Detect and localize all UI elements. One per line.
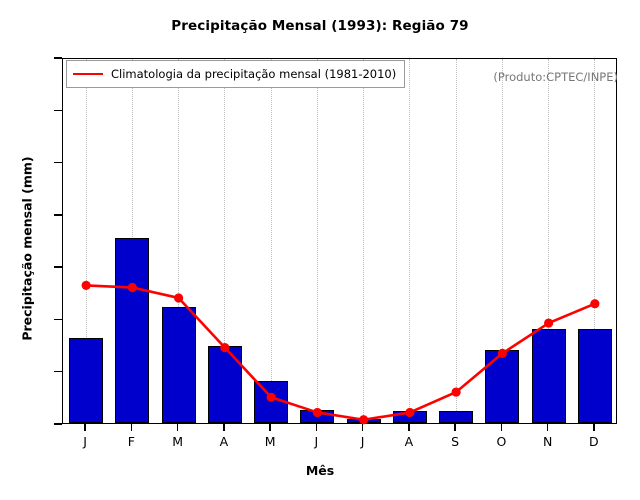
x-axis-tick-label: N	[528, 434, 568, 449]
x-axis-tick-label: F	[111, 434, 151, 449]
plot-inner	[63, 59, 616, 423]
bar	[69, 338, 103, 423]
y-axis-label: Precipitação mensal (mm)	[20, 129, 35, 369]
bar	[300, 410, 334, 423]
x-axis-tick	[454, 424, 455, 431]
x-axis-tick	[547, 424, 548, 431]
bar	[162, 307, 196, 423]
x-axis-tick	[593, 424, 594, 431]
gridline-vertical	[363, 59, 365, 423]
gridline-vertical	[271, 59, 273, 423]
x-axis-tick-label: S	[435, 434, 475, 449]
x-axis-tick	[223, 424, 224, 431]
x-axis-tick	[316, 424, 317, 431]
bar	[439, 411, 473, 423]
x-axis-tick-label: O	[481, 434, 521, 449]
bar	[485, 350, 519, 423]
x-axis-tick	[177, 424, 178, 431]
y-axis-tick	[54, 423, 62, 424]
x-axis-tick-label: M	[158, 434, 198, 449]
x-axis-tick-label: J	[296, 434, 336, 449]
bar	[393, 411, 427, 423]
producer-annotation: (Produto:CPTEC/INPE)	[493, 70, 618, 84]
page-title: Precipitação Mensal (1993): Região 79	[0, 18, 640, 34]
bar	[115, 238, 149, 423]
bar	[208, 346, 242, 423]
x-axis-tick	[501, 424, 502, 431]
gridline-vertical	[409, 59, 411, 423]
gridline-vertical	[317, 59, 319, 423]
plot-area	[62, 58, 617, 424]
y-axis-tick	[54, 162, 62, 163]
legend-item-label: Climatologia da precipitação mensal (198…	[111, 67, 396, 81]
x-axis-tick	[362, 424, 363, 431]
x-axis-tick	[84, 424, 85, 431]
x-axis-tick-label: A	[204, 434, 244, 449]
gridline-vertical	[456, 59, 458, 423]
y-axis-tick	[54, 266, 62, 267]
y-axis-tick	[54, 57, 62, 58]
x-axis-tick	[269, 424, 270, 431]
y-axis-tick	[54, 371, 62, 372]
legend-color-swatch	[73, 73, 103, 75]
x-axis-tick-label: M	[250, 434, 290, 449]
bar	[532, 329, 566, 423]
x-axis-tick	[408, 424, 409, 431]
x-axis-label: Mês	[0, 463, 640, 478]
x-axis-tick-label: D	[574, 434, 614, 449]
x-axis-tick-label: J	[65, 434, 105, 449]
bar	[254, 381, 288, 423]
legend: Climatologia da precipitação mensal (198…	[66, 60, 405, 88]
x-axis-tick-label: A	[389, 434, 429, 449]
x-axis-tick-label: J	[343, 434, 383, 449]
bar	[347, 419, 381, 423]
y-axis-tick	[54, 214, 62, 215]
x-axis-tick	[131, 424, 132, 431]
chart-figure: Precipitação Mensal (1993): Região 79 Pr…	[0, 0, 640, 500]
y-axis-tick	[54, 110, 62, 111]
bar	[578, 329, 612, 423]
y-axis-tick	[54, 319, 62, 320]
